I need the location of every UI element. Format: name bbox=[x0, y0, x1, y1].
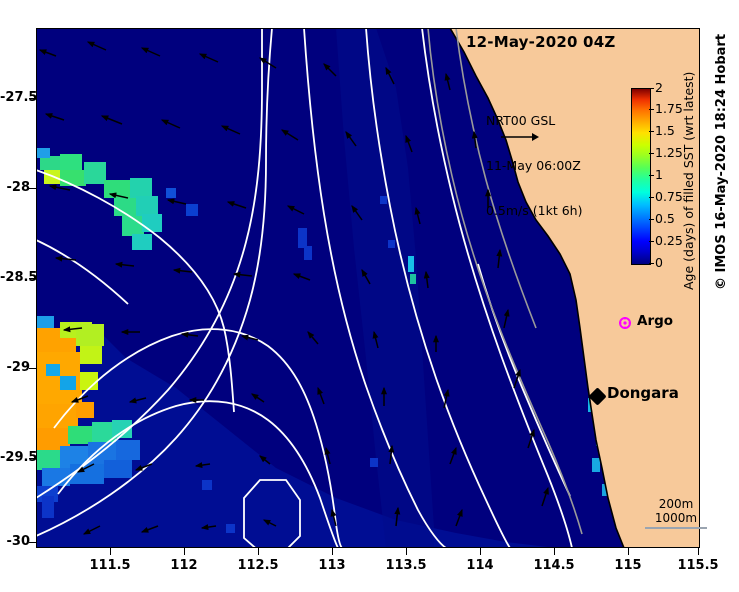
colorbar-label-075: 0.75 bbox=[655, 189, 683, 204]
depth-label-1000m: 1000m bbox=[645, 511, 707, 525]
colorbar-label-1: 1 bbox=[655, 167, 663, 182]
x-axis-label: 112 bbox=[154, 558, 214, 573]
map-title: 12-May-2020 04Z bbox=[466, 33, 615, 51]
x-axis-label: 113 bbox=[302, 558, 362, 573]
colorbar-tick bbox=[649, 197, 654, 198]
depth-scale-legend: 200m 1000m bbox=[645, 497, 707, 529]
colorbar-label-125: 1.25 bbox=[655, 145, 683, 160]
y-axis-label: -29.5 bbox=[0, 450, 30, 465]
colorbar-tick bbox=[649, 241, 654, 242]
current-annotation: NRT00 GSL 11-May 06:00Z 0.5m/s (1kt 6h) bbox=[486, 83, 582, 248]
colorbar-label-05: 0.5 bbox=[655, 211, 675, 226]
scale-rule bbox=[645, 527, 707, 529]
colorbar-tick bbox=[649, 263, 654, 264]
y-axis-label: -28.5 bbox=[0, 270, 30, 285]
y-axis-tick bbox=[29, 542, 36, 543]
map-canvas bbox=[36, 28, 700, 548]
annotation-line-1: NRT00 GSL bbox=[486, 113, 582, 128]
argo-marker-icon[interactable] bbox=[619, 317, 631, 329]
annotation-line-3: 0.5m/s (1kt 6h) bbox=[486, 203, 582, 218]
x-axis-label: 111.5 bbox=[80, 558, 140, 573]
colorbar-tick bbox=[649, 109, 654, 110]
depth-label-200m: 200m bbox=[645, 497, 707, 511]
credit-text: © IMOS 16-May-2020 18:24 Hobart bbox=[714, 34, 729, 290]
colorbar-label-0: 0 bbox=[655, 255, 663, 270]
colorbar-label-175: 1.75 bbox=[655, 101, 683, 116]
y-axis-label: -27.5 bbox=[0, 90, 30, 105]
argo-label: Argo bbox=[637, 313, 673, 329]
map-figure: 12-May-2020 04Z NRT00 GSL 11-May 06:00Z … bbox=[0, 0, 739, 592]
y-axis-label: -30 bbox=[0, 534, 30, 549]
colorbar-tick bbox=[649, 219, 654, 220]
x-axis-tick bbox=[480, 548, 481, 555]
x-axis-tick bbox=[406, 548, 407, 555]
colorbar-tick bbox=[649, 88, 654, 89]
colorbar bbox=[631, 88, 651, 265]
x-axis-tick bbox=[258, 548, 259, 555]
dongara-label: Dongara bbox=[607, 384, 679, 402]
x-axis-tick bbox=[628, 548, 629, 555]
x-axis-tick bbox=[110, 548, 111, 555]
colorbar-title: Age (days) of filled SST (wrt latest) bbox=[681, 72, 696, 290]
y-axis-label: -28 bbox=[0, 180, 30, 195]
x-axis-tick bbox=[698, 548, 699, 555]
colorbar-tick bbox=[649, 131, 654, 132]
y-axis-tick bbox=[29, 368, 36, 369]
x-axis-tick bbox=[554, 548, 555, 555]
x-axis-tick bbox=[332, 548, 333, 555]
colorbar-label-2: 2 bbox=[655, 80, 663, 95]
y-axis-label: -29 bbox=[0, 360, 30, 375]
x-axis-label: 115 bbox=[598, 558, 658, 573]
colorbar-tick bbox=[649, 153, 654, 154]
x-axis-label: 114.5 bbox=[524, 558, 584, 573]
map-plot-area[interactable] bbox=[36, 28, 700, 548]
annotation-line-2: 11-May 06:00Z bbox=[486, 158, 582, 173]
x-axis-label: 115.5 bbox=[668, 558, 728, 573]
x-axis-label: 114 bbox=[450, 558, 510, 573]
x-axis-label: 113.5 bbox=[376, 558, 436, 573]
y-axis-tick bbox=[29, 188, 36, 189]
reference-vector-arrow bbox=[500, 130, 540, 144]
x-axis-tick bbox=[184, 548, 185, 555]
x-axis-label: 112.5 bbox=[228, 558, 288, 573]
colorbar-label-025: 0.25 bbox=[655, 233, 683, 248]
colorbar-label-15: 1.5 bbox=[655, 123, 675, 138]
colorbar-tick bbox=[649, 175, 654, 176]
